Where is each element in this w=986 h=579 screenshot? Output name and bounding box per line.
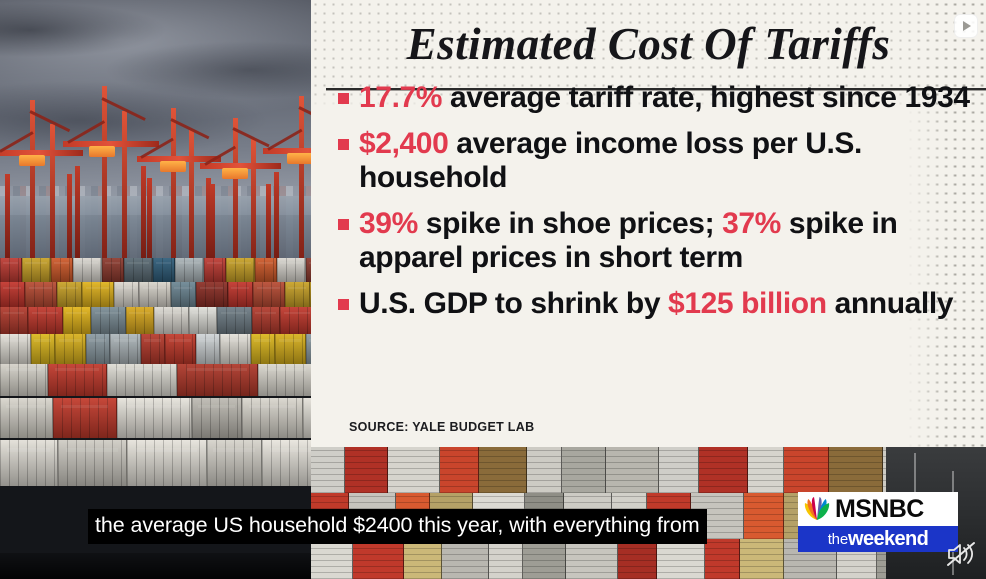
bullet-rest: average tariff rate, highest since 1934 (442, 81, 970, 114)
bullet-highlight: 17.7% (359, 81, 442, 114)
bullet-text: 17.7% average tariff rate, highest since… (359, 81, 970, 116)
network-bug: MSNBC theweekend (798, 492, 958, 552)
show-name-bar: theweekend (798, 526, 958, 552)
bullet-text: 39% spike in shoe prices; 37% spike in a… (359, 207, 976, 276)
infographic-panel: Estimated Cost Of Tariffs 17.7% average … (311, 0, 986, 447)
bullet-highlight: 39% (359, 207, 418, 240)
bullet-rest: spike in shoe prices; (418, 207, 722, 240)
bullet-pre: U.S. GDP to shrink by (359, 287, 668, 320)
aerial-container-row (311, 447, 986, 493)
bullet-rest: annually (827, 287, 953, 320)
bullet-list: 17.7% average tariff rate, highest since… (311, 81, 986, 321)
nbc-peacock-icon (802, 496, 832, 522)
network-logo-row: MSNBC (798, 492, 958, 526)
bullet-highlight-secondary: 37% (722, 207, 781, 240)
bullet-square-icon (338, 139, 349, 150)
source-attribution: SOURCE: YALE BUDGET LAB (349, 420, 534, 434)
play-icon[interactable] (954, 14, 978, 38)
bullet-gdp-shrink: U.S. GDP to shrink by $125 billion annua… (338, 287, 976, 322)
closed-caption-text: the average US household $2400 this year… (88, 509, 707, 544)
show-name-the: the (828, 531, 848, 548)
show-name-weekend: weekend (848, 528, 928, 551)
bullet-square-icon (338, 219, 349, 230)
video-frame: MAERSKMAERSKMAERSKSEALAND Estimated Cost… (0, 0, 986, 579)
bullet-square-icon (338, 299, 349, 310)
bullet-square-icon (338, 93, 349, 104)
mute-speaker-icon[interactable] (946, 541, 976, 567)
bullet-text: $2,400 average income loss per U.S. hous… (359, 127, 976, 196)
bullet-highlight: $2,400 (359, 127, 448, 160)
page-title: Estimated Cost Of Tariffs (311, 0, 986, 67)
bullet-income-loss: $2,400 average income loss per U.S. hous… (338, 127, 976, 196)
network-name: MSNBC (835, 497, 924, 522)
bullet-text: U.S. GDP to shrink by $125 billion annua… (359, 287, 953, 322)
bullet-price-spikes: 39% spike in shoe prices; 37% spike in a… (338, 207, 976, 276)
bullet-highlight: $125 billion (668, 287, 827, 320)
play-triangle-icon (963, 21, 971, 31)
bullet-tariff-rate: 17.7% average tariff rate, highest since… (338, 81, 976, 116)
